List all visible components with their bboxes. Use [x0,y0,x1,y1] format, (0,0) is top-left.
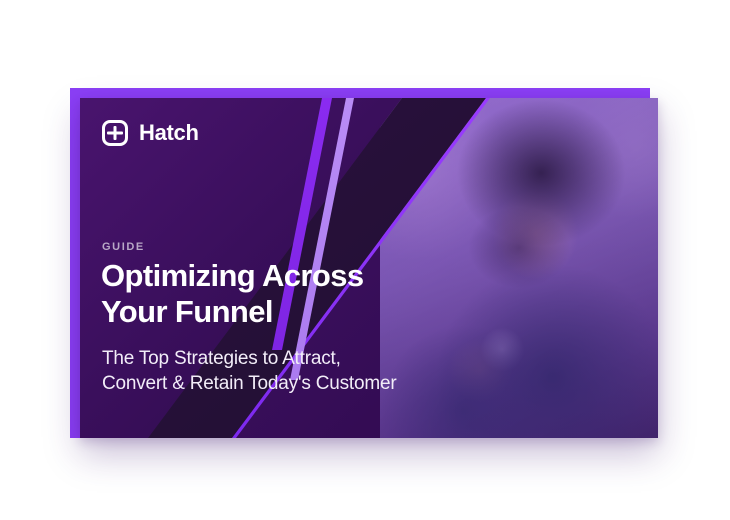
page-subtitle: The Top Strategies to Attract, Convert &… [102,346,522,397]
guide-cover-card: Hatch GUIDE Optimizing Across Your Funne… [80,98,658,438]
subtitle-line-2: Convert & Retain Today's Customer [102,371,522,396]
cover-canvas: Hatch GUIDE Optimizing Across Your Funne… [0,0,730,520]
eyebrow-label: GUIDE [102,241,145,253]
subtitle-line-1: The Top Strategies to Attract, [102,346,522,371]
brand-logo: Hatch [102,120,199,146]
hatch-h-mark-icon [102,120,128,146]
page-title: Optimizing Across Your Funnel [101,258,441,331]
cover-content: Hatch GUIDE Optimizing Across Your Funne… [80,98,658,438]
title-line-2: Your Funnel [101,294,441,330]
brand-name: Hatch [139,120,199,146]
title-line-1: Optimizing Across [101,258,441,294]
